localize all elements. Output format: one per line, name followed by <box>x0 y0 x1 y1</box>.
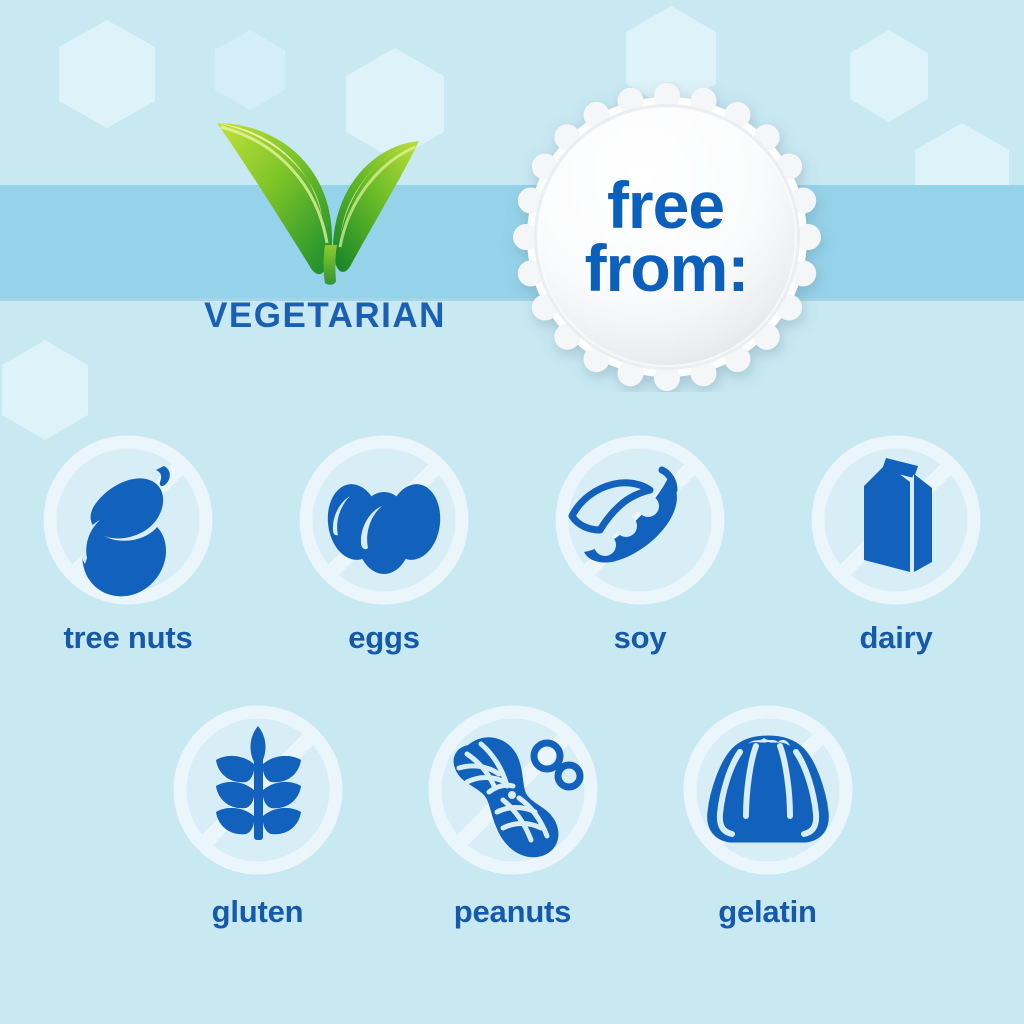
allergen-item-soy: soy <box>512 430 768 656</box>
tree-nuts-icon-wrap <box>38 430 218 610</box>
allergen-item-tree-nuts: tree nuts <box>0 430 256 656</box>
allergen-label: peanuts <box>454 894 571 930</box>
allergen-item-gelatin: gelatin <box>640 700 895 930</box>
allergen-label: eggs <box>348 620 420 656</box>
allergen-item-peanuts: peanuts <box>385 700 640 930</box>
free-from-badge: free from: <box>495 82 840 392</box>
dairy-icon-wrap <box>806 430 986 610</box>
vegetarian-block: VEGETARIAN <box>140 105 510 336</box>
allergen-row-1: tree nuts <box>0 430 1024 656</box>
free-from-infographic: VEGETARIAN <box>0 0 1024 1024</box>
eggs-icon-wrap <box>294 430 474 610</box>
allergen-row-2: gluten <box>0 700 1024 930</box>
gluten-icon-wrap <box>168 700 348 880</box>
allergen-item-gluten: gluten <box>130 700 385 930</box>
allergen-label: gluten <box>212 894 304 930</box>
allergen-item-dairy: dairy <box>768 430 1024 656</box>
allergen-label: tree nuts <box>63 620 192 656</box>
peanuts-icon-wrap <box>423 700 603 880</box>
two-leaves-icon <box>205 105 445 290</box>
allergen-label: dairy <box>859 620 932 656</box>
allergen-label: soy <box>614 620 667 656</box>
allergen-item-eggs: eggs <box>256 430 512 656</box>
allergen-label: gelatin <box>718 894 817 930</box>
vegetarian-label: VEGETARIAN <box>140 296 510 336</box>
soy-icon-wrap <box>550 430 730 610</box>
bottle-cap-shape <box>495 82 840 392</box>
gelatin-icon-wrap <box>678 700 858 880</box>
